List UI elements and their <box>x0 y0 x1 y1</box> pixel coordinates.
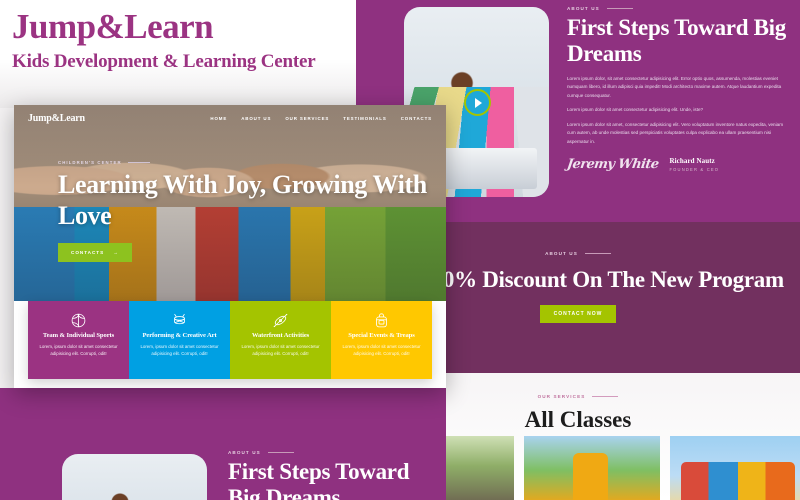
signature-name: Richard Nautz <box>669 157 719 165</box>
nav-item-contacts[interactable]: CONTACTS <box>401 116 432 121</box>
hero-eyebrow-label: CHILDREN'S CENTER <box>58 160 122 165</box>
nav-item-home[interactable]: HOME <box>210 116 227 121</box>
brand-title: Jump&Learn <box>0 0 356 47</box>
about-copy: ABOUT US First Steps Toward Big Dreams L… <box>567 6 789 172</box>
bottom-about-copy: ABOUT US First Steps Toward Big Dreams <box>228 450 443 500</box>
presentation-board: ABOUT US First Steps Toward Big Dreams L… <box>0 0 800 500</box>
bottom-about-heading: First Steps Toward Big Dreams <box>228 459 443 500</box>
service-card-special-events[interactable]: Special Events & Treaps Lorem, ipsum dol… <box>331 301 432 379</box>
service-card-sports[interactable]: Team & Individual Sports Lorem, ipsum do… <box>28 301 129 379</box>
running-kids-photo[interactable] <box>524 436 660 500</box>
signature-row: Jeremy White Richard Nautz FOUNDER & CEO <box>567 157 789 172</box>
main-site-window: Jump&Learn HOME ABOUT US OUR SERVICES TE… <box>14 105 446 388</box>
kayak-icon <box>238 310 323 330</box>
service-card-text: Lorem, ipsum dolor sit amet consectetur … <box>238 343 323 358</box>
site-logo[interactable]: Jump&Learn <box>28 113 85 124</box>
bottom-about-eyebrow-label: ABOUT US <box>228 450 261 455</box>
bottom-about-section: ABOUT US First Steps Toward Big Dreams <box>0 388 446 500</box>
hero-contacts-label: CONTACTS <box>71 250 104 255</box>
nav-links: HOME ABOUT US OUR SERVICES TESTIMONIALS … <box>210 116 432 121</box>
service-card-title: Team & Individual Sports <box>36 332 121 339</box>
classes-eyebrow: OUR SERVICES <box>538 394 619 399</box>
service-card-text: Lorem, ipsum dolor sit amet consectetur … <box>137 343 222 358</box>
about-paragraph-1: Lorem ipsum dolor, sit amet consectetur … <box>567 75 789 100</box>
hero-heading: Learning With Joy, Growing With Love <box>58 170 446 231</box>
discount-eyebrow-label: ABOUT US <box>545 251 578 256</box>
hero-contacts-button[interactable]: CONTACTS → <box>58 243 132 262</box>
about-paragraph-2: Lorem ipsum dolor sit amet consectetur a… <box>567 106 789 114</box>
service-card-text: Lorem, ipsum dolor sit amet consectetur … <box>339 343 424 358</box>
brand-panel: Jump&Learn Kids Development & Learning C… <box>0 0 356 108</box>
nav-item-testimonials[interactable]: TESTIMONIALS <box>343 116 387 121</box>
about-paragraph-3: Lorem ipsum dolor sit amet, consectetur … <box>567 121 789 146</box>
service-card-title: Special Events & Treaps <box>339 332 424 339</box>
signature-role: FOUNDER & CEO <box>669 167 719 172</box>
kids-reading-photo <box>62 454 207 500</box>
nav-item-about-us[interactable]: ABOUT US <box>241 116 271 121</box>
nav-item-our-services[interactable]: OUR SERVICES <box>285 116 329 121</box>
bottom-about-photo <box>62 454 207 500</box>
hero-copy: CHILDREN'S CENTER Learning With Joy, Gro… <box>58 160 446 262</box>
backpack-icon <box>339 310 424 330</box>
bottom-about-eyebrow: ABOUT US <box>228 450 443 455</box>
service-card-text: Lorem, ipsum dolor sit amet consectetur … <box>36 343 121 358</box>
service-card-title: Performing & Creative Art <box>137 332 222 339</box>
eyebrow-divider <box>268 452 294 453</box>
group-kids-photo[interactable] <box>670 436 800 500</box>
drum-icon <box>137 310 222 330</box>
about-eyebrow-label: ABOUT US <box>567 6 600 11</box>
service-card-title: Waterfront Activities <box>238 332 323 339</box>
eyebrow-divider <box>607 8 633 9</box>
arrow-right-icon: → <box>113 250 119 255</box>
brand-subtitle: Kids Development & Learning Center <box>0 47 356 73</box>
play-icon[interactable] <box>464 89 491 116</box>
contact-now-button[interactable]: CONTACT NOW <box>540 305 617 323</box>
basketball-icon <box>36 310 121 330</box>
service-card-waterfront[interactable]: Waterfront Activities Lorem, ipsum dolor… <box>230 301 331 379</box>
service-card-creative-art[interactable]: Performing & Creative Art Lorem, ipsum d… <box>129 301 230 379</box>
eyebrow-divider <box>128 162 150 163</box>
about-eyebrow: ABOUT US <box>567 6 789 11</box>
classes-eyebrow-label: OUR SERVICES <box>538 394 586 399</box>
discount-eyebrow: ABOUT US <box>545 251 611 256</box>
eyebrow-divider <box>592 396 618 397</box>
signature-block: Richard Nautz FOUNDER & CEO <box>669 157 719 172</box>
hero-eyebrow: CHILDREN'S CENTER <box>58 160 446 165</box>
about-heading: First Steps Toward Big Dreams <box>567 15 789 67</box>
site-navbar: Jump&Learn HOME ABOUT US OUR SERVICES TE… <box>14 105 446 131</box>
hero-section: Jump&Learn HOME ABOUT US OUR SERVICES TE… <box>14 105 446 301</box>
service-cards: Team & Individual Sports Lorem, ipsum do… <box>28 301 432 379</box>
eyebrow-divider <box>585 253 611 254</box>
signature-script: Jeremy White <box>566 157 660 172</box>
